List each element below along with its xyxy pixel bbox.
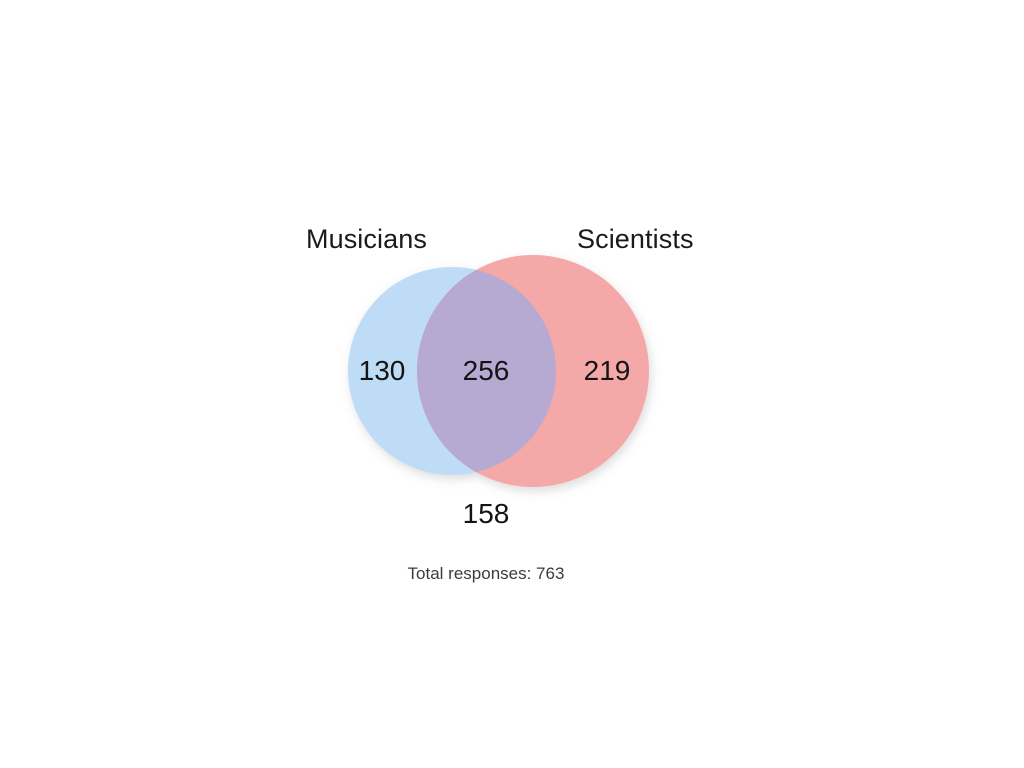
count-intersection: 256 [455, 357, 517, 385]
count-scientists-only: 219 [578, 357, 636, 385]
count-musicians-only: 130 [353, 357, 411, 385]
total-responses-caption: Total responses: 763 [392, 565, 580, 582]
count-outside-both: 158 [455, 500, 517, 528]
venn-diagram-figure: Musicians Scientists 130 256 219 158 Tot… [0, 0, 1024, 768]
